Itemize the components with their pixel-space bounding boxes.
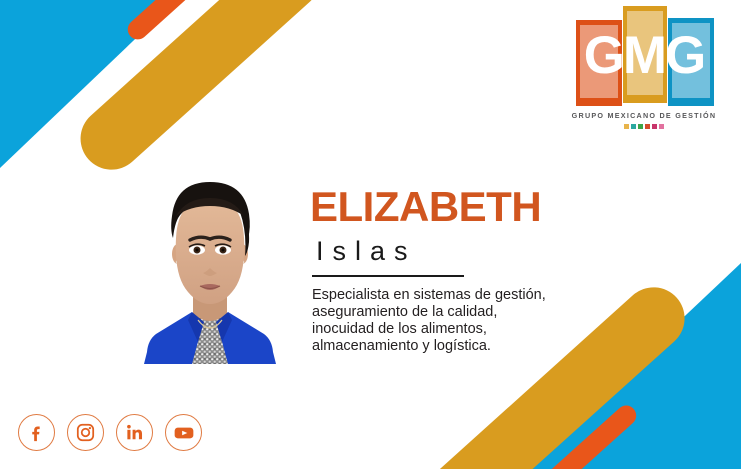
description-line-4: almacenamiento y logística. — [312, 338, 640, 355]
last-name: Islas — [316, 238, 640, 265]
linkedin-icon[interactable] — [116, 414, 153, 451]
person-info: ELIZABETH Islas Especialista en sistemas… — [310, 186, 640, 355]
youtube-icon[interactable] — [165, 414, 202, 451]
name-divider — [312, 275, 464, 277]
description-line-3: inocuidad de los alimentos, — [312, 321, 640, 338]
business-card: GMG GRUPO MEXICANO DE GESTIÓN — [0, 0, 741, 469]
logo-color-dots — [569, 124, 719, 129]
description-line-1: Especialista en sistemas de gestión, — [312, 287, 640, 304]
logo-mark: GMG — [574, 6, 714, 106]
logo-dot-2 — [631, 124, 636, 129]
yellow-diagonal-bar-top-left — [68, 0, 332, 182]
cyan-triangle-top-left — [0, 0, 176, 168]
portrait-illustration — [136, 168, 284, 364]
orange-diagonal-bar-top-left — [124, 0, 209, 44]
person-description: Especialista en sistemas de gestión, ase… — [312, 287, 640, 355]
social-links — [18, 414, 202, 451]
orange-diagonal-bar-bottom-right — [538, 401, 641, 469]
portrait-image — [136, 168, 284, 364]
logo-letters: GMG — [574, 29, 714, 82]
logo-tagline: GRUPO MEXICANO DE GESTIÓN — [569, 111, 719, 120]
logo-dot-3 — [638, 124, 643, 129]
logo-dot-5 — [652, 124, 657, 129]
gmg-logo: GMG GRUPO MEXICANO DE GESTIÓN — [569, 6, 719, 129]
first-name: ELIZABETH — [310, 186, 640, 228]
description-line-2: aseguramiento de la calidad, — [312, 304, 640, 321]
logo-dot-6 — [659, 124, 664, 129]
facebook-icon[interactable] — [18, 414, 55, 451]
logo-dot-4 — [645, 124, 650, 129]
logo-dot-1 — [624, 124, 629, 129]
portrait-photo — [136, 168, 284, 364]
instagram-icon[interactable] — [67, 414, 104, 451]
